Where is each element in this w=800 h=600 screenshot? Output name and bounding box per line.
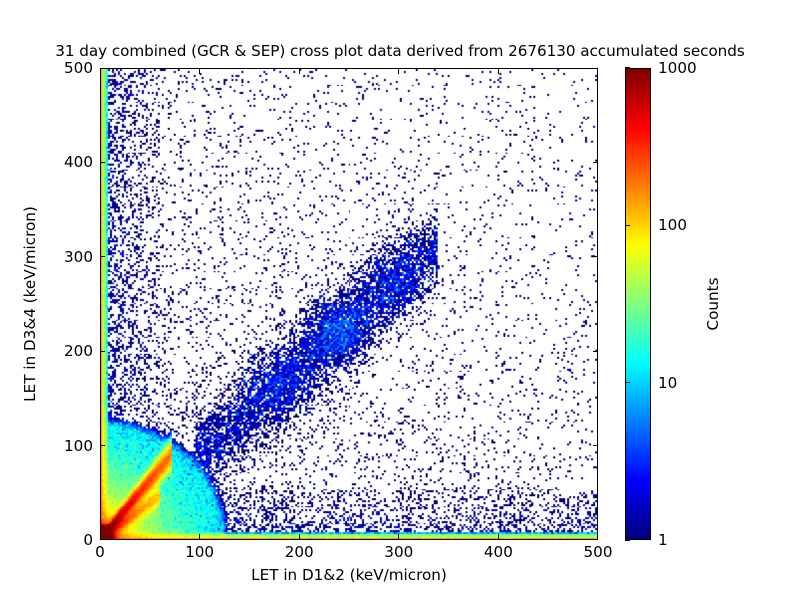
- y-tick-label-200: 200: [64, 342, 93, 360]
- x-tick-top-200: [299, 69, 300, 74]
- x-tick-300: [398, 534, 399, 539]
- colorbar-tick-10: [625, 382, 630, 383]
- x-tick-100: [199, 534, 200, 539]
- colorbar-frame: [625, 68, 651, 540]
- figure-canvas: 31 day combined (GCR & SEP) cross plot d…: [0, 0, 800, 600]
- scatter-heatmap-canvas: [101, 69, 597, 539]
- y-tick-label-500: 500: [64, 59, 93, 77]
- y-tick-400: [100, 162, 105, 163]
- y-tick-500: [100, 68, 105, 69]
- y-tick-0: [100, 539, 105, 540]
- colorbar-label: Counts: [704, 204, 722, 404]
- colorbar: [625, 68, 651, 540]
- plot-axes: [100, 68, 598, 540]
- y-tick-right-500: [593, 68, 598, 69]
- x-tick-top-400: [498, 69, 499, 74]
- x-tick-top-100: [199, 69, 200, 74]
- y-tick-right-0: [593, 539, 598, 540]
- y-axis-ticks-right: [592, 68, 598, 540]
- colorbar-tick-label-10: 10: [658, 374, 677, 392]
- y-tick-300: [100, 256, 105, 257]
- x-axis-label: LET in D1&2 (keV/micron): [100, 566, 598, 584]
- x-tick-label-400: 400: [484, 543, 513, 561]
- x-tick-label-300: 300: [384, 543, 413, 561]
- x-tick-label-200: 200: [285, 543, 314, 561]
- colorbar-tick-100: [625, 225, 630, 226]
- y-tick-label-0: 0: [83, 531, 93, 549]
- y-tick-100: [100, 445, 105, 446]
- x-tick-200: [299, 534, 300, 539]
- colorbar-tick-1: [625, 539, 630, 540]
- x-tick-label-100: 100: [185, 543, 214, 561]
- colorbar-tick-1000: [625, 67, 630, 68]
- y-tick-right-300: [593, 256, 598, 257]
- x-axis-ticks: [100, 534, 598, 540]
- x-tick-top-300: [398, 69, 399, 74]
- colorbar-tick-label-100: 100: [658, 216, 687, 234]
- y-axis-label: LET in D3&4 (keV/micron): [21, 154, 39, 454]
- y-tick-right-100: [593, 445, 598, 446]
- x-tick-label-0: 0: [95, 543, 105, 561]
- y-tick-right-400: [593, 162, 598, 163]
- x-axis-ticks-top: [100, 68, 598, 74]
- y-axis-ticks: [100, 68, 106, 540]
- colorbar-tick-label-1000: 1000: [658, 59, 697, 77]
- y-tick-200: [100, 351, 105, 352]
- colorbar-gradient: [626, 69, 650, 539]
- x-tick-400: [498, 534, 499, 539]
- y-tick-right-200: [593, 351, 598, 352]
- y-tick-label-300: 300: [64, 248, 93, 266]
- colorbar-tick-label-1: 1: [658, 531, 668, 549]
- y-tick-label-100: 100: [64, 437, 93, 455]
- x-tick-label-500: 500: [584, 543, 613, 561]
- y-tick-label-400: 400: [64, 153, 93, 171]
